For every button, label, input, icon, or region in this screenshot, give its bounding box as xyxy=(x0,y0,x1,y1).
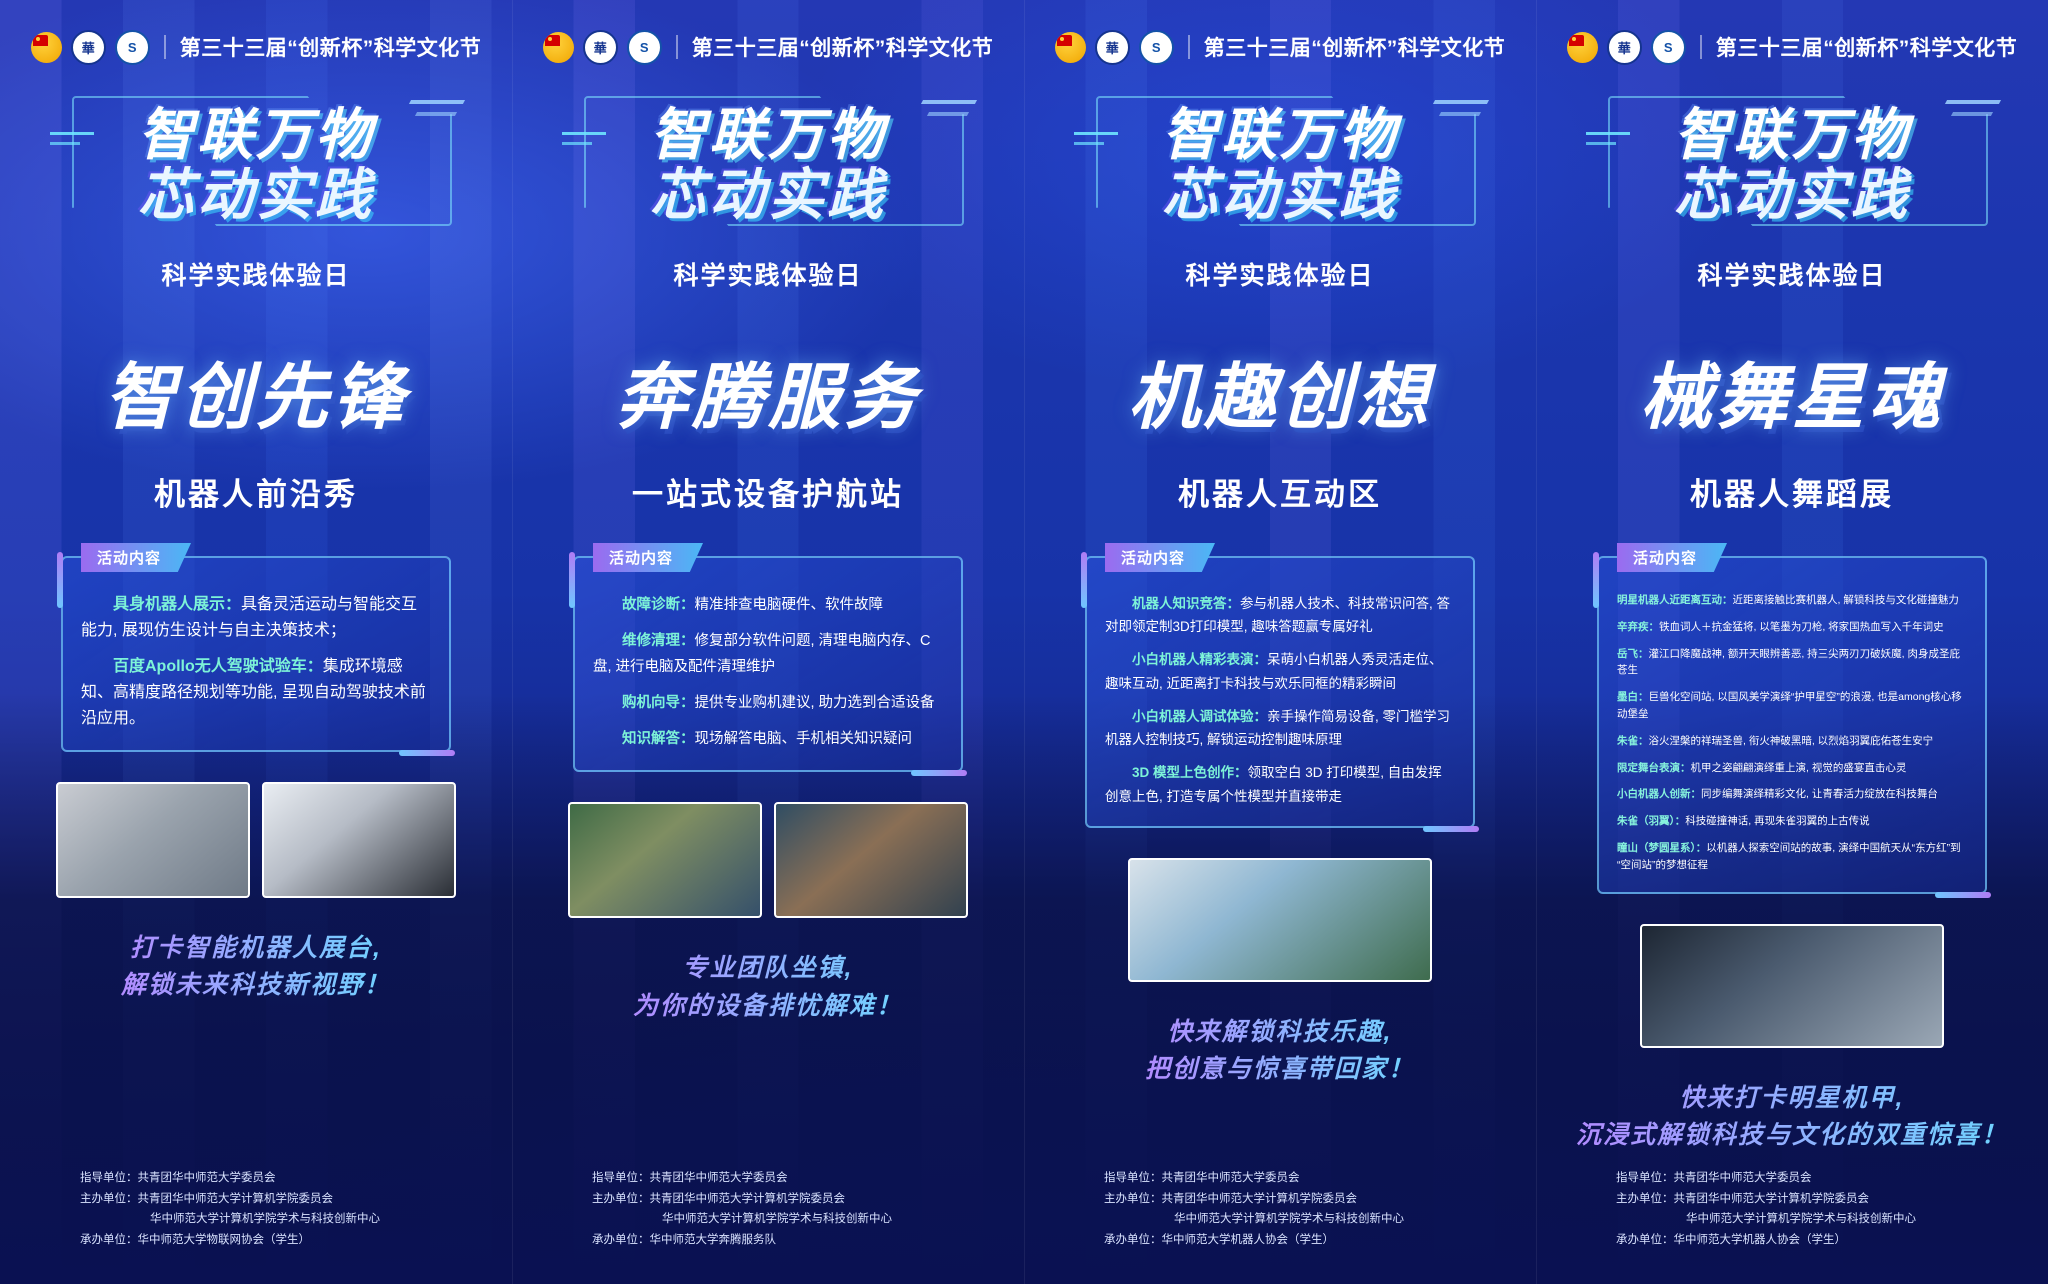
activity-item-text: 浴火涅槃的祥瑞圣兽, 衔火神破黑暗, 以烈焰羽翼庇佑苍生安宁 xyxy=(1649,735,1934,747)
panel-header: 華 S 第三十三届“创新杯”科学文化节 xyxy=(543,30,994,64)
hero-line-2: 芯动实践 xyxy=(650,166,886,224)
slogan-line-1: 快来打卡明星机甲, xyxy=(1576,1080,2008,1118)
activity-item: 机器人知识竞答：参与机器人技术、科技常识问答, 答对即领定制3D打印模型, 趣味… xyxy=(1105,592,1455,638)
footer-line: 指导单位：共青团华中师范大学委员会 xyxy=(1616,1168,1992,1188)
slogan-line-1: 快来解锁科技乐趣, xyxy=(1145,1014,1415,1052)
poster-board: 華 S 第三十三届“创新杯”科学文化节 智联万物 芯动实践 科学实践体验日 智创… xyxy=(0,0,2048,1284)
activity-item-key: 故障诊断： xyxy=(622,597,695,613)
header-divider xyxy=(1188,35,1190,59)
footer-line: 承办单位：华中师范大学物联网协会（学生） xyxy=(80,1230,456,1250)
robot-arm-lab-photo xyxy=(56,782,250,898)
hero-line-1: 智联万物 xyxy=(138,106,374,164)
ccnu-cs-emblem-icon: S xyxy=(115,30,150,65)
activity-item-key: 知识解答： xyxy=(622,731,695,747)
youth-league-emblem-icon xyxy=(1055,32,1086,63)
activity-item-text: 近距离接触比赛机器人, 解锁科技与文化碰撞魅力 xyxy=(1733,594,1959,606)
festival-title: 第三十三届“创新杯”科学文化节 xyxy=(1204,32,1506,62)
activity-item-text: 机甲之姿翩翩演绎重上演, 视觉的盛宴直击心灵 xyxy=(1691,762,1907,774)
activity-item-key: 辛弃疾： xyxy=(1617,621,1659,633)
footer-line: 指导单位：共青团华中师范大学委员会 xyxy=(1104,1168,1480,1188)
youth-league-emblem-icon xyxy=(1567,32,1598,63)
panel-footer: 指导单位：共青团华中师范大学委员会 主办单位：共青团华中师范大学计算机学院委员会… xyxy=(56,1168,456,1250)
hero-subtitle: 科学实践体验日 xyxy=(161,256,350,292)
footer-line: 承办单位：华中师范大学机器人协会（学生） xyxy=(1616,1230,1992,1250)
activity-item: 小白机器人调试体验：亲手操作简易设备, 零门槛学习机器人控制技巧, 解锁运动控制… xyxy=(1105,705,1455,751)
poster-panel-2: 華 S 第三十三届“创新杯”科学文化节 智联万物 芯动实践 科学实践体验日 奔腾… xyxy=(512,0,1024,1284)
slogan-line-1: 打卡智能机器人展台, xyxy=(121,930,391,968)
poster-panel-3: 華 S 第三十三届“创新杯”科学文化节 智联万物 芯动实践 科学实践体验日 机趣… xyxy=(1024,0,1536,1284)
activity-item-key: 3D 模型上色创作： xyxy=(1132,765,1248,780)
hero-subtitle: 科学实践体验日 xyxy=(673,256,862,292)
hero-subtitle: 科学实践体验日 xyxy=(1697,256,1886,292)
activity-item: 朱雀：浴火涅槃的祥瑞圣兽, 衔火神破黑暗, 以烈焰羽翼庇佑苍生安宁 xyxy=(1617,733,1967,750)
hero-lockup: 智联万物 芯动实践 xyxy=(1582,90,2002,240)
poster-panel-1: 華 S 第三十三届“创新杯”科学文化节 智联万物 芯动实践 科学实践体验日 智创… xyxy=(0,0,512,1284)
activity-item: 知识解答：现场解答电脑、手机相关知识疑问 xyxy=(593,726,943,752)
activity-card: 活动内容 故障诊断：精准排查电脑硬件、软件故障 维修清理：修复部分软件问题, 清… xyxy=(573,556,963,772)
activity-item-key: 岳飞： xyxy=(1617,648,1649,660)
hero-deco-line xyxy=(50,142,80,145)
slogan-line-2: 为你的设备排忧解难！ xyxy=(633,988,903,1026)
activity-item-text: 精准排查电脑硬件、软件故障 xyxy=(695,597,884,613)
youth-league-emblem-icon xyxy=(543,32,574,63)
activity-item-key: 明星机器人近距离互动： xyxy=(1617,594,1733,606)
slogan-line-2: 解锁未来科技新视野！ xyxy=(121,967,391,1005)
hero-deco-slash xyxy=(1945,100,2001,104)
activity-item-key: 小白机器人调试体验： xyxy=(1132,709,1267,724)
slogan-line-2: 把创意与惊喜带回家！ xyxy=(1145,1051,1415,1089)
activity-item-key: 小白机器人创新： xyxy=(1617,788,1701,800)
activity-item-key: 朱雀（羽翼）： xyxy=(1617,815,1685,827)
hero-deco-slash xyxy=(1439,112,1481,116)
activity-item-text: 同步编舞演绎精彩文化, 让青春活力绽放在科技舞台 xyxy=(1701,788,1938,800)
panel-sublabel: 机器人互动区 xyxy=(1178,469,1382,514)
activity-item-text: 灌江口降魔战神, 额开天眼辨善恶, 持三尖两刃刀破妖魔, 肉身成圣庇苍生 xyxy=(1617,648,1960,677)
activity-item-key: 维修清理： xyxy=(622,633,695,649)
hero-deco-slash xyxy=(927,112,969,116)
panel-headline: 械舞星魂 xyxy=(1640,338,1944,443)
activity-item: 限定舞台表演：机甲之姿翩翩演绎重上演, 视觉的盛宴直击心灵 xyxy=(1617,760,1967,777)
activity-item-key: 墨白： xyxy=(1617,691,1649,703)
panel-slogan: 专业团队坐镇, 为你的设备排忧解难！ xyxy=(633,950,903,1025)
activity-item: 3D 模型上色创作：领取空白 3D 打印模型, 自由发挥创意上色, 打造专属个性… xyxy=(1105,761,1455,807)
hero-deco-line xyxy=(50,132,94,135)
activity-item: 辛弃疾：铁血词人＋抗金猛将, 以笔墨为刀枪, 将家国热血写入千年词史 xyxy=(1617,619,1967,636)
panel-slogan: 打卡智能机器人展台, 解锁未来科技新视野！ xyxy=(121,930,391,1005)
activity-item-key: 朱雀： xyxy=(1617,735,1649,747)
activity-item: 百度Apollo无人驾驶试验车：集成环境感知、高精度路径规划等功能, 呈现自动驾… xyxy=(81,654,431,732)
panel-header: 華 S 第三十三届“创新杯”科学文化节 xyxy=(1055,30,1506,64)
hero-deco-line xyxy=(1074,142,1104,145)
photo-strip xyxy=(568,802,968,918)
panel-slogan: 快来解锁科技乐趣, 把创意与惊喜带回家！ xyxy=(1145,1014,1415,1089)
ccnu-cs-emblem-icon: S xyxy=(1139,30,1174,65)
activity-item: 故障诊断：精准排查电脑硬件、软件故障 xyxy=(593,592,943,618)
hero-line-2: 芯动实践 xyxy=(138,166,374,224)
panel-sublabel: 一站式设备护航站 xyxy=(632,469,904,514)
activity-item: 具身机器人展示：具备灵活运动与智能交互能力, 展现仿生设计与自主决策技术； xyxy=(81,592,431,644)
hero-line-2: 芯动实践 xyxy=(1674,166,1910,224)
panel-footer: 指导单位：共青团华中师范大学委员会 主办单位：共青团华中师范大学计算机学院委员会… xyxy=(1592,1168,1992,1250)
hero-deco-slash xyxy=(409,100,465,104)
hero-line-1: 智联万物 xyxy=(650,106,886,164)
panel-footer: 指导单位：共青团华中师范大学委员会 主办单位：共青团华中师范大学计算机学院委员会… xyxy=(1080,1168,1480,1250)
activity-card-tab: 活动内容 xyxy=(81,543,191,572)
activity-item-key: 机器人知识竞答： xyxy=(1132,596,1240,611)
activity-item-key: 瞳山（梦圆星系）： xyxy=(1617,842,1706,854)
activity-item: 瞳山（梦圆星系）：以机器人探索空间站的故事, 演绎中国航天从“东方红”到“空间站… xyxy=(1617,840,1967,874)
wheeled-robot-photo xyxy=(262,782,456,898)
youth-league-emblem-icon xyxy=(31,32,62,63)
festival-title: 第三十三届“创新杯”科学文化节 xyxy=(180,32,482,62)
activity-item: 明星机器人近距离互动：近距离接触比赛机器人, 解锁科技与文化碰撞魅力 xyxy=(1617,592,1967,609)
hero-lockup: 智联万物 芯动实践 xyxy=(1070,90,1490,240)
activity-item-text: 巨兽化空间站, 以国风美学演绎“护甲星空”的浪漫, 也是among核心移动堡垒 xyxy=(1617,691,1962,720)
ccnu-emblem-icon: 華 xyxy=(71,30,106,65)
slogan-line-1: 专业团队坐镇, xyxy=(633,950,903,988)
activity-item-key: 小白机器人精彩表演： xyxy=(1132,652,1267,667)
hero-line-1: 智联万物 xyxy=(1674,106,1910,164)
header-divider xyxy=(1700,35,1702,59)
footer-line: 主办单位：共青团华中师范大学计算机学院委员会 xyxy=(1616,1189,1992,1209)
hero-deco-slash xyxy=(1433,100,1489,104)
festival-title: 第三十三届“创新杯”科学文化节 xyxy=(1716,32,2018,62)
activity-card: 活动内容 明星机器人近距离互动：近距离接触比赛机器人, 解锁科技与文化碰撞魅力 … xyxy=(1597,556,1987,894)
footer-line: 华中师范大学计算机学院学术与科技创新中心 xyxy=(1616,1209,1992,1229)
footer-line: 指导单位：共青团华中师范大学委员会 xyxy=(592,1168,968,1188)
kids-building-robots-workshop-photo xyxy=(1128,858,1432,982)
panel-headline: 智创先锋 xyxy=(104,338,408,443)
activity-item: 购机向导：提供专业购机建议, 助力选到合适设备 xyxy=(593,690,943,716)
activity-item: 小白机器人创新：同步编舞演绎精彩文化, 让青春活力绽放在科技舞台 xyxy=(1617,786,1967,803)
ccnu-emblem-icon: 華 xyxy=(1095,30,1130,65)
footer-line: 华中师范大学计算机学院学术与科技创新中心 xyxy=(80,1209,456,1229)
activity-item-key: 限定舞台表演： xyxy=(1617,762,1691,774)
activity-item: 小白机器人精彩表演：呆萌小白机器人秀灵活走位、趣味互动, 近距离打卡科技与欢乐同… xyxy=(1105,648,1455,694)
hero-deco-line xyxy=(1586,132,1630,135)
footer-line: 指导单位：共青团华中师范大学委员会 xyxy=(80,1168,456,1188)
footer-line: 华中师范大学计算机学院学术与科技创新中心 xyxy=(1104,1209,1480,1229)
activity-item: 维修清理：修复部分软件问题, 清理电脑内存、C盘, 进行电脑及配件清理维护 xyxy=(593,628,943,680)
panel-footer: 指导单位：共青团华中师范大学委员会 主办单位：共青团华中师范大学计算机学院委员会… xyxy=(568,1168,968,1250)
hero-lockup: 智联万物 芯动实践 xyxy=(46,90,466,240)
header-divider xyxy=(164,35,166,59)
hero-deco-slash xyxy=(921,100,977,104)
footer-line: 承办单位：华中师范大学机器人协会（学生） xyxy=(1104,1230,1480,1250)
slogan-line-2: 沉浸式解锁科技与文化的双重惊喜！ xyxy=(1576,1117,2008,1155)
activity-item-text: 科技碰撞神话, 再现朱雀羽翼的上古传说 xyxy=(1685,815,1869,827)
card-corner-deco xyxy=(569,552,575,608)
hero-deco-line xyxy=(562,142,592,145)
hero-deco-line xyxy=(1586,142,1616,145)
hero-line-2: 芯动实践 xyxy=(1162,166,1398,224)
hero-deco-slash xyxy=(1951,112,1993,116)
activity-card: 活动内容 机器人知识竞答：参与机器人技术、科技常识问答, 答对即领定制3D打印模… xyxy=(1085,556,1475,828)
panel-headline: 机趣创想 xyxy=(1128,338,1432,443)
activity-card: 活动内容 具身机器人展示：具备灵活运动与智能交互能力, 展现仿生设计与自主决策技… xyxy=(61,556,451,752)
activity-card-tab: 活动内容 xyxy=(1105,543,1215,572)
footer-line: 华中师范大学计算机学院学术与科技创新中心 xyxy=(592,1209,968,1229)
activity-item-key: 购机向导： xyxy=(622,695,695,711)
card-corner-deco xyxy=(1081,552,1087,608)
card-corner-deco xyxy=(1593,552,1599,608)
hero-lockup: 智联万物 芯动实践 xyxy=(558,90,978,240)
activity-item-key: 具身机器人展示： xyxy=(113,596,241,613)
panel-slogan: 快来打卡明星机甲, 沉浸式解锁科技与文化的双重惊喜！ xyxy=(1576,1080,2008,1155)
panel-sublabel: 机器人前沿秀 xyxy=(154,469,358,514)
hero-deco-line xyxy=(1074,132,1118,135)
activity-card-tab: 活动内容 xyxy=(1617,543,1727,572)
panel-sublabel: 机器人舞蹈展 xyxy=(1690,469,1894,514)
panel-header: 華 S 第三十三届“创新杯”科学文化节 xyxy=(31,30,482,64)
footer-line: 承办单位：华中师范大学奔腾服务队 xyxy=(592,1230,968,1250)
activity-card-tab: 活动内容 xyxy=(593,543,703,572)
humanoid-robots-lineup-photo xyxy=(1640,924,1944,1048)
activity-item-key: 百度Apollo无人驾驶试验车： xyxy=(113,658,323,675)
activity-item-text: 铁血词人＋抗金猛将, 以笔墨为刀枪, 将家国热血写入千年词史 xyxy=(1659,621,1944,633)
activity-item: 墨白：巨兽化空间站, 以国风美学演绎“护甲星空”的浪漫, 也是among核心移动… xyxy=(1617,689,1967,723)
card-corner-deco xyxy=(911,770,967,776)
activity-item: 朱雀（羽翼）：科技碰撞神话, 再现朱雀羽翼的上古传说 xyxy=(1617,813,1967,830)
header-divider xyxy=(676,35,678,59)
footer-line: 主办单位：共青团华中师范大学计算机学院委员会 xyxy=(592,1189,968,1209)
hero-subtitle: 科学实践体验日 xyxy=(1185,256,1374,292)
card-corner-deco xyxy=(57,552,63,608)
ccnu-cs-emblem-icon: S xyxy=(627,30,662,65)
photo-strip xyxy=(56,782,456,898)
activity-item-text: 现场解答电脑、手机相关知识疑问 xyxy=(695,731,913,747)
panel-header: 華 S 第三十三届“创新杯”科学文化节 xyxy=(1567,30,2018,64)
ccnu-emblem-icon: 華 xyxy=(583,30,618,65)
photo-strip xyxy=(1080,858,1480,982)
hero-deco-slash xyxy=(415,112,457,116)
card-corner-deco xyxy=(1423,826,1479,832)
ccnu-cs-emblem-icon: S xyxy=(1651,30,1686,65)
students-laptop-outdoor-photo xyxy=(568,802,762,918)
repair-team-onsite-photo xyxy=(774,802,968,918)
card-corner-deco xyxy=(399,750,455,756)
footer-line: 主办单位：共青团华中师范大学计算机学院委员会 xyxy=(80,1189,456,1209)
poster-panel-4: 華 S 第三十三届“创新杯”科学文化节 智联万物 芯动实践 科学实践体验日 械舞… xyxy=(1536,0,2048,1284)
panel-headline: 奔腾服务 xyxy=(616,338,920,443)
hero-line-1: 智联万物 xyxy=(1162,106,1398,164)
photo-strip xyxy=(1592,924,1992,1048)
festival-title: 第三十三届“创新杯”科学文化节 xyxy=(692,32,994,62)
footer-line: 主办单位：共青团华中师范大学计算机学院委员会 xyxy=(1104,1189,1480,1209)
activity-item-text: 提供专业购机建议, 助力选到合适设备 xyxy=(695,695,935,711)
card-corner-deco xyxy=(1935,892,1991,898)
ccnu-emblem-icon: 華 xyxy=(1607,30,1642,65)
hero-deco-line xyxy=(562,132,606,135)
activity-item: 岳飞：灌江口降魔战神, 额开天眼辨善恶, 持三尖两刃刀破妖魔, 肉身成圣庇苍生 xyxy=(1617,646,1967,680)
